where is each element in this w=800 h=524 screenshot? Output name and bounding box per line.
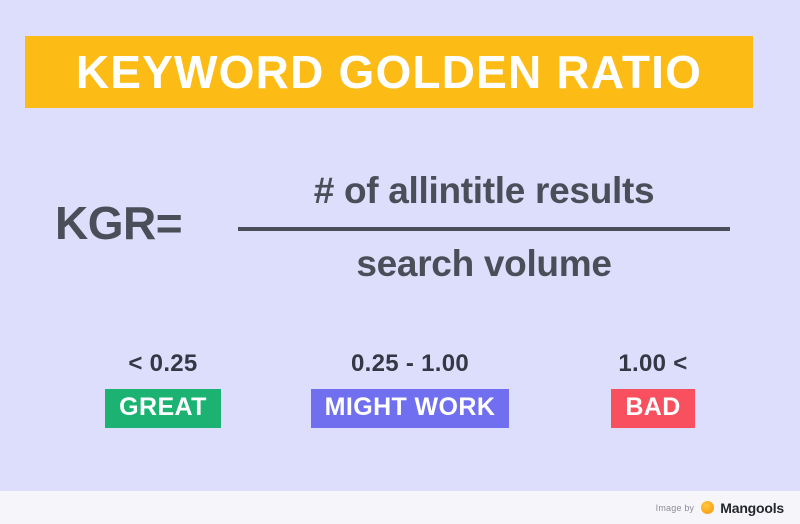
status-badge-bad: BAD	[611, 389, 694, 428]
formula-fraction: # of allintitle results search volume	[238, 168, 730, 288]
footer-brand-name: Mangools	[720, 500, 784, 516]
formula-label: KGR=	[55, 200, 182, 246]
status-badge-great: GREAT	[105, 389, 221, 428]
formula-numerator: # of allintitle results	[238, 168, 730, 214]
kgr-infographic: KEYWORD GOLDEN RATIO KGR= # of allintitl…	[0, 0, 800, 524]
mango-icon	[701, 501, 714, 514]
range-item-might-work: 0.25 - 1.00 MIGHT WORK	[285, 352, 535, 428]
range-value-great: < 0.25	[88, 352, 238, 376]
range-value-might-work: 0.25 - 1.00	[285, 352, 535, 376]
status-badge-might-work: MIGHT WORK	[311, 389, 510, 428]
footer-attribution: Image by Mangools	[0, 491, 800, 524]
range-item-great: < 0.25 GREAT	[88, 352, 238, 428]
range-value-bad: 1.00 <	[568, 352, 738, 376]
range-legend: < 0.25 GREAT 0.25 - 1.00 MIGHT WORK 1.00…	[0, 352, 800, 442]
title-banner: KEYWORD GOLDEN RATIO	[25, 36, 753, 108]
formula-denominator: search volume	[238, 241, 730, 287]
footer-credit-label: Image by	[656, 503, 695, 513]
fraction-bar	[238, 227, 730, 231]
kgr-formula: KGR= # of allintitle results search volu…	[0, 168, 800, 308]
page-title: KEYWORD GOLDEN RATIO	[76, 49, 702, 95]
range-item-bad: 1.00 < BAD	[568, 352, 738, 428]
